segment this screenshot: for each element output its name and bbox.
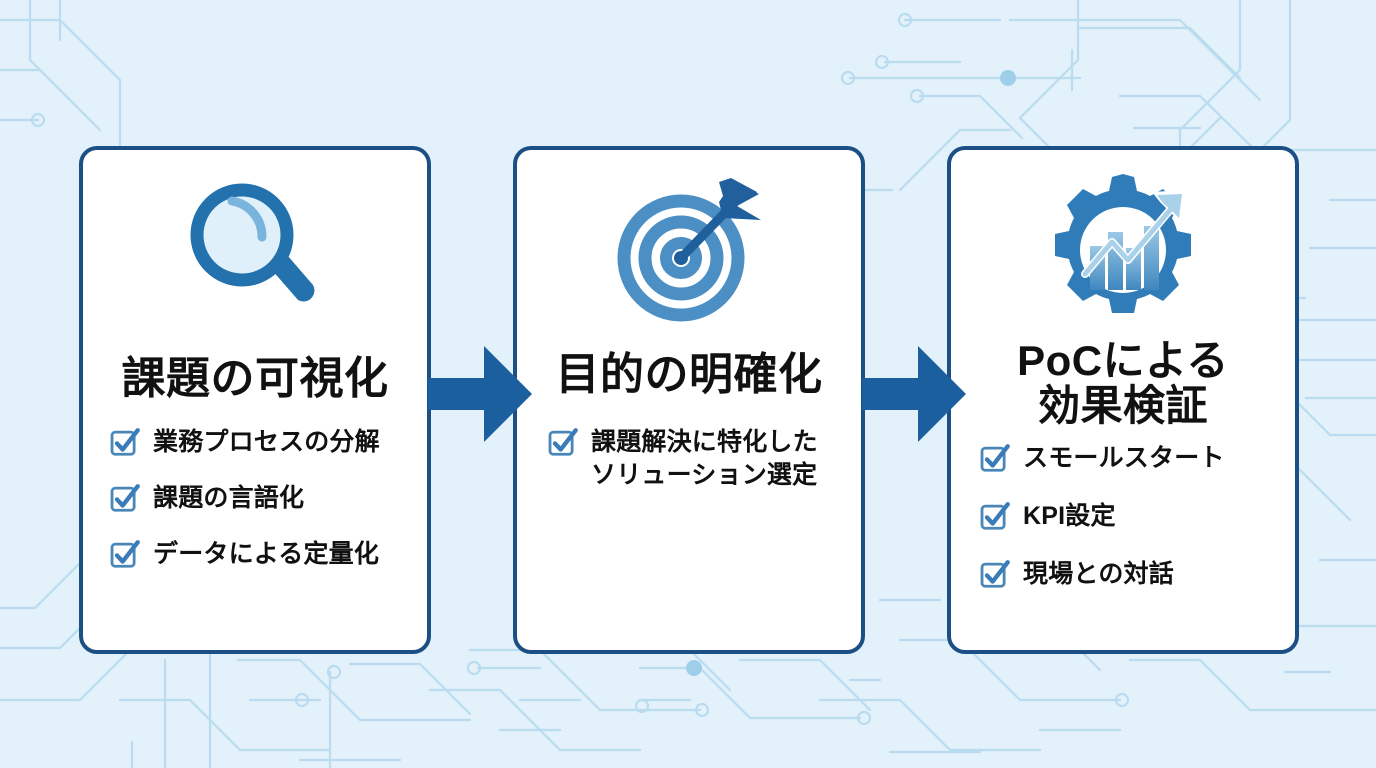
checkbox-checked-icon[interactable] xyxy=(979,442,1011,474)
checkbox-checked-icon[interactable] xyxy=(109,426,141,458)
list-item-label: 業務プロセスの分解 xyxy=(153,425,380,459)
list-item[interactable]: KPI設定 xyxy=(979,499,1279,533)
checkbox-checked-icon[interactable] xyxy=(547,426,579,458)
list-item-label: スモールスタート xyxy=(1023,441,1225,475)
list-item[interactable]: 業務プロセスの分解 xyxy=(109,425,411,459)
list-item[interactable]: スモールスタート xyxy=(979,441,1279,475)
card-title-line: 目的の明確化 xyxy=(517,352,861,399)
list-item-label: データによる定量化 xyxy=(153,537,379,571)
card-title: PoCによる 効果検証 xyxy=(951,338,1295,429)
card-title-line: 課題の可視化 xyxy=(83,356,427,403)
target-dartboard-icon xyxy=(517,162,861,338)
list-item-label: KPI設定 xyxy=(1023,499,1116,533)
card-title: 目的の明確化 xyxy=(517,352,861,399)
flow-step-card-2[interactable]: 目的の明確化 課題解決に特化した ソリューション選定 xyxy=(513,146,865,654)
bullet-list: 業務プロセスの分解 課題の言語化 データによる定量化 xyxy=(83,425,427,571)
right-arrow-icon-2 xyxy=(862,344,966,444)
card-title-line: 効果検証 xyxy=(951,383,1295,428)
list-item-label: 課題の言語化 xyxy=(153,481,304,515)
list-item-label: 現場との対話 xyxy=(1023,557,1174,591)
list-item[interactable]: 課題の言語化 xyxy=(109,481,411,515)
flow-step-card-1[interactable]: 課題の可視化 業務プロセスの分解 課題の言語化 xyxy=(79,146,431,654)
checkbox-checked-icon[interactable] xyxy=(109,538,141,570)
slide-canvas: 課題の可視化 業務プロセスの分解 課題の言語化 xyxy=(0,0,1376,768)
bullet-list: スモールスタート KPI設定 現場との対話 xyxy=(951,441,1295,591)
gear-growth-chart-icon xyxy=(951,162,1295,338)
magnifying-glass-icon xyxy=(83,162,427,338)
flow-step-card-3[interactable]: PoCによる 効果検証 スモールスタート KPI設定 xyxy=(947,146,1299,654)
right-arrow-icon-1 xyxy=(428,344,532,444)
list-item[interactable]: 課題解決に特化した ソリューション選定 xyxy=(547,425,845,493)
list-item[interactable]: データによる定量化 xyxy=(109,537,411,571)
checkbox-checked-icon[interactable] xyxy=(109,482,141,514)
bullet-list: 課題解決に特化した ソリューション選定 xyxy=(517,425,861,493)
checkbox-checked-icon[interactable] xyxy=(979,500,1011,532)
checkbox-checked-icon[interactable] xyxy=(979,558,1011,590)
list-item[interactable]: 現場との対話 xyxy=(979,557,1279,591)
card-title: 課題の可視化 xyxy=(83,356,427,403)
card-title-line: PoCによる xyxy=(951,338,1295,383)
list-item-label: 課題解決に特化した ソリューション選定 xyxy=(591,425,818,493)
